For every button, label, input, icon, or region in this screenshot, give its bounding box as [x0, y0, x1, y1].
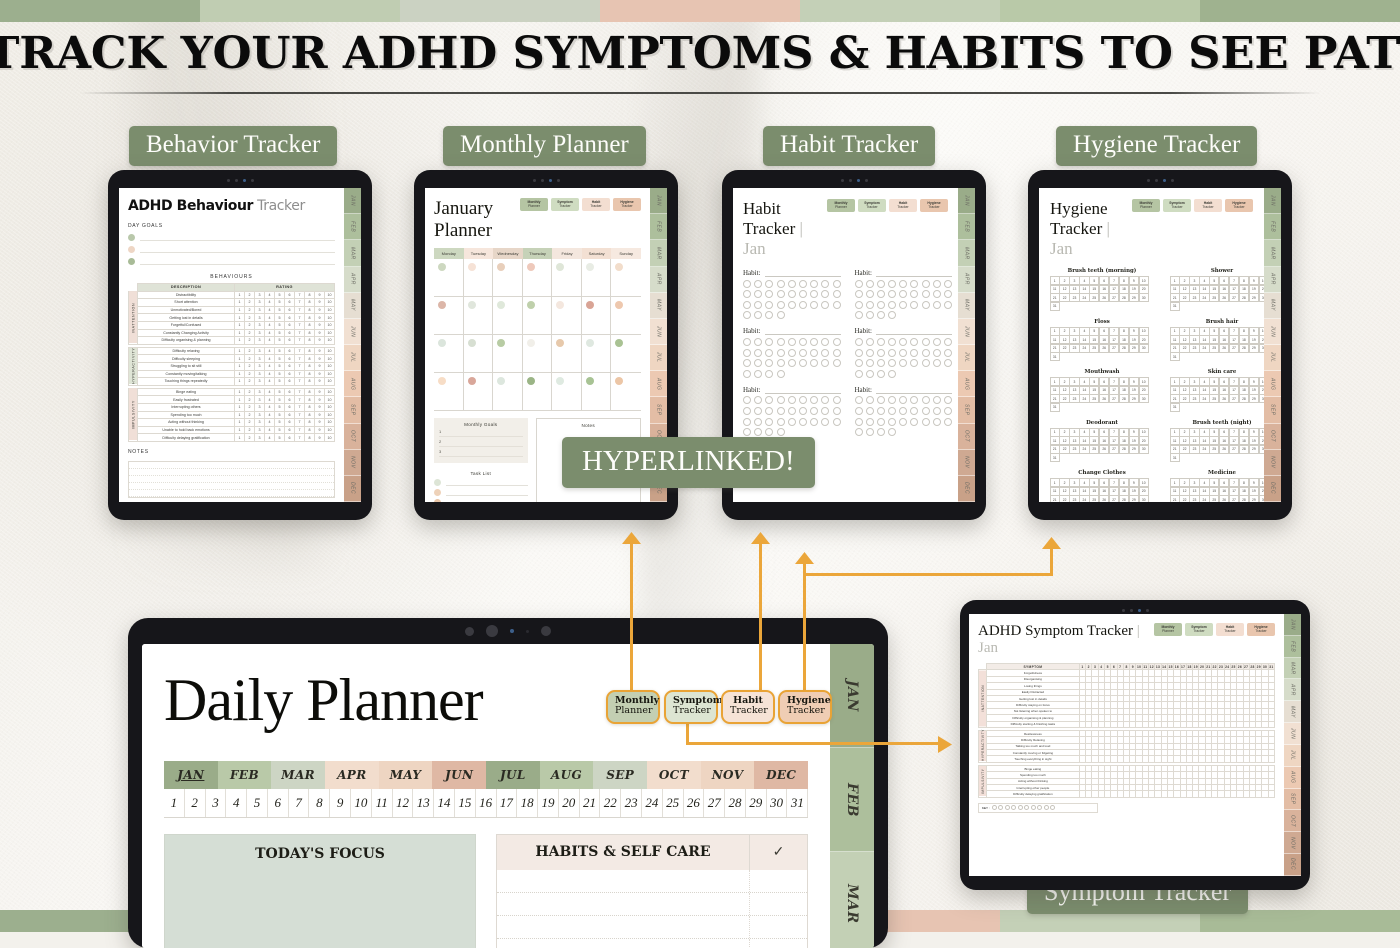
hygiene-day-grid[interactable]: 1234567891011121314151617181920212223242…: [1170, 428, 1264, 462]
rating-cell[interactable]: 10: [325, 396, 335, 404]
habit-day-circle[interactable]: [765, 396, 773, 404]
habit-day-circle[interactable]: [933, 349, 941, 357]
rating-cell[interactable]: 5: [275, 355, 285, 363]
nav-button-monthly[interactable]: MonthlyPlanner: [606, 690, 660, 724]
habit-day-circle[interactable]: [855, 349, 863, 357]
hygiene-day-cell[interactable]: 24: [1079, 344, 1089, 353]
rating-cell[interactable]: 3: [255, 321, 265, 329]
tablet-symptom-tracker[interactable]: ADHD Symptom Tracker | Jan MonthlyPlanne…: [960, 600, 1310, 890]
habit-day-circle[interactable]: [855, 290, 863, 298]
date-tab-13[interactable]: 13: [413, 789, 434, 817]
table-row[interactable]: Acting without thinking12345678910: [129, 419, 335, 427]
nav-chip-monthly[interactable]: MonthlyPlanner: [520, 198, 548, 211]
rating-cell[interactable]: 10: [325, 434, 335, 442]
rating-cell[interactable]: 2: [245, 378, 255, 386]
habit-day-circle[interactable]: [743, 338, 751, 346]
habit-day-circle[interactable]: [899, 280, 907, 288]
table-row[interactable]: Difficulty delaying gratification1234567…: [129, 434, 335, 442]
hygiene-day-cell[interactable]: 23: [1189, 394, 1199, 403]
rating-cell[interactable]: 1: [235, 419, 245, 427]
date-tab-10[interactable]: 10: [351, 789, 372, 817]
habit-day-circle[interactable]: [833, 338, 841, 346]
habit-day-circle[interactable]: [821, 418, 829, 426]
rating-cell[interactable]: 9: [315, 370, 325, 378]
rating-cell[interactable]: 1: [235, 329, 245, 337]
rating-cell[interactable]: 5: [275, 370, 285, 378]
rating-cell[interactable]: 4: [265, 378, 275, 386]
habit-day-circle[interactable]: [765, 280, 773, 288]
rating-cell[interactable]: 4: [265, 362, 275, 370]
rating-cell[interactable]: 5: [275, 419, 285, 427]
habit-day-circle[interactable]: [866, 301, 874, 309]
habit-day-circle[interactable]: [944, 418, 952, 426]
habit-day-circle[interactable]: [833, 359, 841, 367]
hygiene-day-cell[interactable]: 22: [1059, 445, 1069, 454]
habit-day-circle[interactable]: [888, 280, 896, 288]
rating-cell[interactable]: 8: [305, 426, 315, 434]
rating-cell[interactable]: 7: [295, 337, 305, 345]
page-nav-chips[interactable]: MonthlyPlannerSymptomTrackerHabitTracker…: [1154, 623, 1275, 636]
table-row[interactable]: Easily frustrated12345678910: [129, 396, 335, 404]
side-tab-aug[interactable]: AUG: [1264, 371, 1281, 397]
rating-cell[interactable]: 2: [245, 337, 255, 345]
habit-day-circle[interactable]: [877, 311, 885, 319]
side-tab-dec[interactable]: DEC: [1284, 854, 1301, 876]
side-tab-jul[interactable]: JUL: [1264, 345, 1281, 371]
calendar-cell[interactable]: [611, 373, 641, 411]
side-tab-mar[interactable]: MAR: [1264, 240, 1281, 266]
month-tab-dec[interactable]: DEC: [754, 761, 808, 789]
side-tab-may[interactable]: MAY: [344, 293, 361, 319]
habit-day-circle[interactable]: [866, 370, 874, 378]
rating-cell[interactable]: 7: [295, 299, 305, 307]
rating-cell[interactable]: 2: [245, 291, 255, 299]
date-tab-2[interactable]: 2: [185, 789, 206, 817]
nav-chip-symptom[interactable]: SymptomTracker: [551, 198, 579, 211]
habit-day-circle[interactable]: [877, 338, 885, 346]
habit-day-circle[interactable]: [910, 418, 918, 426]
habit-block[interactable]: Habit:: [855, 386, 953, 436]
rating-cell[interactable]: 4: [265, 355, 275, 363]
side-tab-sep[interactable]: SEP: [650, 397, 667, 423]
habit-day-circle[interactable]: [855, 359, 863, 367]
hygiene-day-cell[interactable]: 23: [1069, 495, 1079, 502]
tablet-hygiene-tracker[interactable]: Hygiene Tracker | Jan MonthlyPlannerSymp…: [1028, 170, 1292, 520]
hygiene-day-cell[interactable]: 29: [1249, 394, 1259, 403]
side-tab-apr[interactable]: APR: [344, 267, 361, 293]
calendar-cell[interactable]: [523, 335, 553, 373]
rating-cell[interactable]: 4: [265, 329, 275, 337]
rating-cell[interactable]: 7: [295, 419, 305, 427]
date-tab-26[interactable]: 26: [684, 789, 705, 817]
habit-day-circle[interactable]: [910, 407, 918, 415]
month-side-tabs[interactable]: JANFEBMARAPRMAYJUNJULAUGSEPOCTNOVDEC: [1264, 188, 1281, 502]
habit-day-circle[interactable]: [877, 407, 885, 415]
rating-cell[interactable]: 9: [315, 396, 325, 404]
habit-day-circle[interactable]: [765, 290, 773, 298]
rating-cell[interactable]: 6: [285, 419, 295, 427]
rating-cell[interactable]: 6: [285, 306, 295, 314]
hygiene-day-cell[interactable]: 31: [1050, 302, 1060, 311]
habit-day-circle[interactable]: [922, 280, 930, 288]
rating-cell[interactable]: 8: [305, 396, 315, 404]
hygiene-day-grid[interactable]: 1234567891011121314151617181920212223242…: [1050, 428, 1154, 462]
hygiene-day-cell[interactable]: 29: [1249, 445, 1259, 454]
hygiene-day-cell[interactable]: 28: [1119, 394, 1129, 403]
habit-day-circle[interactable]: [754, 280, 762, 288]
rating-cell[interactable]: 3: [255, 291, 265, 299]
calendar-cell[interactable]: [464, 297, 494, 335]
hygiene-day-cell[interactable]: 22: [1179, 344, 1189, 353]
date-tab-25[interactable]: 25: [663, 789, 684, 817]
rating-cell[interactable]: 9: [315, 378, 325, 386]
habit-day-circle[interactable]: [743, 407, 751, 415]
habit-day-circle[interactable]: [922, 359, 930, 367]
hygiene-day-cell[interactable]: 29: [1129, 445, 1139, 454]
habit-day-circle[interactable]: [888, 290, 896, 298]
hygiene-day-cell[interactable]: 22: [1059, 293, 1069, 302]
rating-cell[interactable]: 7: [295, 403, 305, 411]
rating-cell[interactable]: 3: [255, 419, 265, 427]
hygiene-day-grid[interactable]: 1234567891011121314151617181920212223242…: [1170, 479, 1264, 503]
habit-day-circle[interactable]: [821, 301, 829, 309]
rating-cell[interactable]: 8: [305, 299, 315, 307]
side-tab-aug[interactable]: AUG: [958, 371, 975, 397]
rating-cell[interactable]: 10: [325, 388, 335, 396]
rating-cell[interactable]: 1: [235, 321, 245, 329]
calendar-cell[interactable]: [552, 297, 582, 335]
habit-day-circle[interactable]: [799, 349, 807, 357]
month-tab-feb[interactable]: FEB: [218, 761, 272, 789]
month-side-tabs[interactable]: JANFEBMARAPRMAYJUNJULAUGSEPOCTNOVDEC: [344, 188, 361, 502]
habit-entry-row[interactable]: [497, 893, 807, 916]
habit-day-circle[interactable]: [754, 370, 762, 378]
hygiene-day-grid[interactable]: 1234567891011121314151617181920212223242…: [1170, 277, 1264, 311]
task-row[interactable]: [434, 479, 528, 486]
habit-day-circle[interactable]: [765, 428, 773, 436]
habit-day-circle[interactable]: [743, 418, 751, 426]
rating-cell[interactable]: 9: [315, 355, 325, 363]
habit-day-circle[interactable]: [877, 280, 885, 288]
rating-cell[interactable]: 6: [285, 396, 295, 404]
rating-cell[interactable]: 4: [265, 434, 275, 442]
rating-cell[interactable]: 9: [315, 426, 325, 434]
habit-day-circle[interactable]: [922, 338, 930, 346]
date-tab-17[interactable]: 17: [497, 789, 518, 817]
hygiene-day-cell[interactable]: 27: [1109, 394, 1119, 403]
rating-cell[interactable]: 9: [315, 306, 325, 314]
rating-cell[interactable]: 6: [285, 403, 295, 411]
calendar-cell[interactable]: [464, 335, 494, 373]
hygiene-day-cell[interactable]: 31: [1050, 403, 1060, 412]
habit-day-circle[interactable]: [777, 290, 785, 298]
habit-day-circle[interactable]: [833, 396, 841, 404]
date-tab-20[interactable]: 20: [559, 789, 580, 817]
nav-chip-habit[interactable]: HabitTracker: [889, 199, 917, 212]
rating-cell[interactable]: 10: [325, 355, 335, 363]
rating-cell[interactable]: 7: [295, 321, 305, 329]
rating-cell[interactable]: 1: [235, 434, 245, 442]
date-tab-27[interactable]: 27: [704, 789, 725, 817]
habit-entry-input[interactable]: [497, 893, 749, 915]
rating-cell[interactable]: 7: [295, 434, 305, 442]
rating-cell[interactable]: 8: [305, 347, 315, 355]
rating-cell[interactable]: 7: [295, 347, 305, 355]
habit-day-circle[interactable]: [765, 418, 773, 426]
habit-entry-input[interactable]: [497, 870, 749, 892]
rating-cell[interactable]: 9: [315, 337, 325, 345]
habit-day-circle[interactable]: [888, 370, 896, 378]
rating-cell[interactable]: 6: [285, 329, 295, 337]
habit-day-circle[interactable]: [877, 428, 885, 436]
habit-day-circle[interactable]: [743, 349, 751, 357]
hygiene-day-cell[interactable]: 24: [1079, 445, 1089, 454]
hygiene-day-cell[interactable]: 23: [1189, 344, 1199, 353]
rating-cell[interactable]: 1: [235, 378, 245, 386]
rating-cell[interactable]: 9: [315, 321, 325, 329]
hygiene-day-cell[interactable]: 28: [1119, 293, 1129, 302]
rating-cell[interactable]: 7: [295, 355, 305, 363]
hygiene-day-cell[interactable]: 28: [1119, 344, 1129, 353]
hygiene-day-cell[interactable]: 30: [1259, 445, 1264, 454]
side-tab-apr[interactable]: APR: [958, 267, 975, 293]
hygiene-day-cell[interactable]: 23: [1189, 445, 1199, 454]
date-tab-9[interactable]: 9: [330, 789, 351, 817]
habit-day-circle[interactable]: [765, 370, 773, 378]
habit-day-circle[interactable]: [933, 418, 941, 426]
habit-day-circle[interactable]: [922, 418, 930, 426]
calendar-cell[interactable]: [611, 259, 641, 297]
monthly-goals-list[interactable]: 123: [439, 427, 523, 457]
habit-day-circle[interactable]: [944, 407, 952, 415]
table-row[interactable]: Struggling to sit still12345678910: [129, 362, 335, 370]
rating-cell[interactable]: 10: [325, 337, 335, 345]
habit-day-circle[interactable]: [899, 338, 907, 346]
rating-cell[interactable]: 2: [245, 321, 255, 329]
habit-day-circle[interactable]: [899, 359, 907, 367]
rating-cell[interactable]: 4: [265, 396, 275, 404]
hygiene-day-cell[interactable]: 23: [1069, 293, 1079, 302]
day-goal-row[interactable]: [128, 246, 335, 253]
habit-day-circle[interactable]: [754, 290, 762, 298]
date-tab-15[interactable]: 15: [455, 789, 476, 817]
rating-cell[interactable]: 9: [315, 299, 325, 307]
table-row[interactable]: Constantly moving/talking12345678910: [129, 370, 335, 378]
goal-input-line[interactable]: [140, 246, 335, 253]
habit-day-circle[interactable]: [855, 418, 863, 426]
rating-cell[interactable]: 4: [265, 419, 275, 427]
hygiene-day-cell[interactable]: 29: [1249, 495, 1259, 502]
nav-chip-hygiene[interactable]: HygieneTracker: [920, 199, 948, 212]
habit-day-circle[interactable]: [788, 290, 796, 298]
habit-day-circle[interactable]: [866, 418, 874, 426]
side-tab-dec[interactable]: DEC: [344, 476, 361, 502]
habit-day-circle[interactable]: [855, 407, 863, 415]
date-tab-19[interactable]: 19: [538, 789, 559, 817]
calendar-cell[interactable]: [611, 297, 641, 335]
hygiene-day-cell[interactable]: 29: [1129, 495, 1139, 502]
rating-cell[interactable]: 7: [295, 426, 305, 434]
rating-cell[interactable]: 2: [245, 355, 255, 363]
date-tab-4[interactable]: 4: [226, 789, 247, 817]
rating-cell[interactable]: 10: [325, 370, 335, 378]
table-row[interactable]: HYPERACTIVITYDifficulty relaxing12345678…: [129, 347, 335, 355]
hygiene-day-cell[interactable]: 26: [1219, 344, 1229, 353]
table-row[interactable]: Difficulty sleeping12345678910: [129, 355, 335, 363]
hygiene-day-cell[interactable]: 30: [1139, 495, 1149, 502]
habit-day-circle[interactable]: [944, 359, 952, 367]
side-tab-may[interactable]: MAY: [650, 293, 667, 319]
hygiene-day-grid[interactable]: 1234567891011121314151617181920212223242…: [1050, 479, 1154, 503]
todays-focus-panel[interactable]: TODAY'S FOCUS: [164, 834, 476, 948]
hygiene-day-cell[interactable]: 21: [1050, 495, 1060, 502]
date-tab-11[interactable]: 11: [372, 789, 393, 817]
habit-day-circle[interactable]: [821, 396, 829, 404]
rating-cell[interactable]: 5: [275, 329, 285, 337]
habit-day-circle[interactable]: [877, 301, 885, 309]
rating-cell[interactable]: 6: [285, 347, 295, 355]
rating-cell[interactable]: 3: [255, 355, 265, 363]
rating-cell[interactable]: 1: [235, 426, 245, 434]
habit-day-circle[interactable]: [899, 396, 907, 404]
hygiene-day-cell[interactable]: 29: [1129, 344, 1139, 353]
rating-cell[interactable]: 4: [265, 388, 275, 396]
habit-day-circle[interactable]: [899, 349, 907, 357]
rating-cell[interactable]: 2: [245, 403, 255, 411]
habit-day-circle[interactable]: [754, 338, 762, 346]
date-tab-row[interactable]: 1234567891011121314151617181920212223242…: [164, 789, 808, 818]
month-tab-oct[interactable]: OCT: [647, 761, 701, 789]
task-input-line[interactable]: [446, 479, 528, 486]
hygiene-day-cell[interactable]: 28: [1239, 293, 1249, 302]
rating-cell[interactable]: 5: [275, 306, 285, 314]
habit-name-input[interactable]: [876, 270, 952, 277]
rating-cell[interactable]: 10: [325, 403, 335, 411]
side-tab-dec[interactable]: DEC: [1264, 476, 1281, 502]
side-tab-may[interactable]: MAY: [1284, 701, 1301, 723]
habit-day-circle[interactable]: [910, 301, 918, 309]
rating-cell[interactable]: 1: [235, 314, 245, 322]
date-tab-18[interactable]: 18: [517, 789, 538, 817]
hygiene-day-cell[interactable]: 31: [1170, 352, 1180, 361]
month-tab-nov[interactable]: NOV: [701, 761, 755, 789]
rating-cell[interactable]: 10: [325, 362, 335, 370]
month-tab-may[interactable]: MAY: [379, 761, 433, 789]
rating-cell[interactable]: 9: [315, 291, 325, 299]
table-row[interactable]: Spending too much12345678910: [129, 411, 335, 419]
date-tab-7[interactable]: 7: [289, 789, 310, 817]
rating-cell[interactable]: 8: [305, 337, 315, 345]
month-tab-jan[interactable]: JAN: [164, 761, 218, 789]
rating-cell[interactable]: 1: [235, 388, 245, 396]
hygiene-day-cell[interactable]: 28: [1239, 394, 1249, 403]
hygiene-day-cell[interactable]: 27: [1109, 495, 1119, 502]
hygiene-day-cell[interactable]: 24: [1079, 495, 1089, 502]
habit-day-circle[interactable]: [799, 418, 807, 426]
nav-chip-habit[interactable]: HabitTracker: [582, 198, 610, 211]
habit-day-circle[interactable]: [833, 280, 841, 288]
rating-cell[interactable]: 3: [255, 426, 265, 434]
habit-day-circle[interactable]: [888, 301, 896, 309]
habit-day-circle[interactable]: [765, 407, 773, 415]
date-tab-30[interactable]: 30: [767, 789, 788, 817]
rating-cell[interactable]: 2: [245, 370, 255, 378]
habit-check-cell[interactable]: [749, 916, 807, 938]
hygiene-day-cell[interactable]: 24: [1079, 394, 1089, 403]
table-row[interactable]: Interrupting others12345678910: [129, 403, 335, 411]
habit-day-circle[interactable]: [922, 349, 930, 357]
rating-cell[interactable]: 6: [285, 426, 295, 434]
calendar-cell[interactable]: [582, 259, 612, 297]
rating-cell[interactable]: 2: [245, 299, 255, 307]
habit-day-circle[interactable]: [743, 280, 751, 288]
hygiene-day-cell[interactable]: 25: [1089, 344, 1099, 353]
side-tab-feb[interactable]: FEB: [344, 214, 361, 240]
habit-day-circle[interactable]: [933, 338, 941, 346]
habit-day-circle[interactable]: [866, 338, 874, 346]
hygiene-day-cell[interactable]: 25: [1209, 344, 1219, 353]
hygiene-day-cell[interactable]: 27: [1109, 445, 1119, 454]
habits-rows[interactable]: [497, 870, 807, 948]
hygiene-day-grid[interactable]: 1234567891011121314151617181920212223242…: [1050, 378, 1154, 412]
rating-cell[interactable]: 3: [255, 299, 265, 307]
rating-cell[interactable]: 3: [255, 329, 265, 337]
goal-input-line[interactable]: [140, 258, 335, 265]
rating-cell[interactable]: 6: [285, 411, 295, 419]
side-tab-jun[interactable]: JUN: [958, 319, 975, 345]
habit-day-circle[interactable]: [944, 290, 952, 298]
date-tab-1[interactable]: 1: [164, 789, 185, 817]
rating-cell[interactable]: 8: [305, 370, 315, 378]
rating-cell[interactable]: 4: [265, 370, 275, 378]
rating-cell[interactable]: 6: [285, 362, 295, 370]
calendar-cell[interactable]: [493, 335, 523, 373]
rating-cell[interactable]: 8: [305, 329, 315, 337]
habit-day-circle[interactable]: [788, 396, 796, 404]
calendar-cell[interactable]: [552, 373, 582, 411]
date-tab-29[interactable]: 29: [746, 789, 767, 817]
habit-day-circle[interactable]: [810, 301, 818, 309]
rating-cell[interactable]: 9: [315, 419, 325, 427]
habit-day-circle[interactable]: [754, 311, 762, 319]
rating-cell[interactable]: 8: [305, 403, 315, 411]
habits-self-care-panel[interactable]: HABITS & SELF CARE ✓: [496, 834, 808, 948]
habit-day-circle[interactable]: [933, 280, 941, 288]
side-tab-mar[interactable]: MAR: [958, 240, 975, 266]
habit-day-circle[interactable]: [922, 396, 930, 404]
habit-day-circle[interactable]: [833, 349, 841, 357]
habit-day-circle[interactable]: [799, 290, 807, 298]
habit-day-circle[interactable]: [877, 396, 885, 404]
habit-day-circle[interactable]: [855, 370, 863, 378]
rating-cell[interactable]: 6: [285, 388, 295, 396]
hygiene-day-cell[interactable]: 24: [1199, 495, 1209, 502]
rating-cell[interactable]: 10: [325, 329, 335, 337]
hygiene-day-cell[interactable]: 31: [1170, 453, 1180, 462]
hygiene-day-cell[interactable]: 23: [1189, 293, 1199, 302]
rating-cell[interactable]: 7: [295, 314, 305, 322]
habit-day-circle[interactable]: [933, 396, 941, 404]
habit-day-circle[interactable]: [833, 407, 841, 415]
rating-cell[interactable]: 10: [325, 299, 335, 307]
rating-cell[interactable]: 9: [315, 434, 325, 442]
rating-cell[interactable]: 2: [245, 362, 255, 370]
calendar-cell[interactable]: [434, 335, 464, 373]
habit-day-circle[interactable]: [877, 418, 885, 426]
habit-day-circle[interactable]: [799, 338, 807, 346]
tablet-behavior-tracker[interactable]: ADHD Behaviour Tracker DAY GOALS BEHAVIO…: [108, 170, 372, 520]
rating-cell[interactable]: 5: [275, 411, 285, 419]
